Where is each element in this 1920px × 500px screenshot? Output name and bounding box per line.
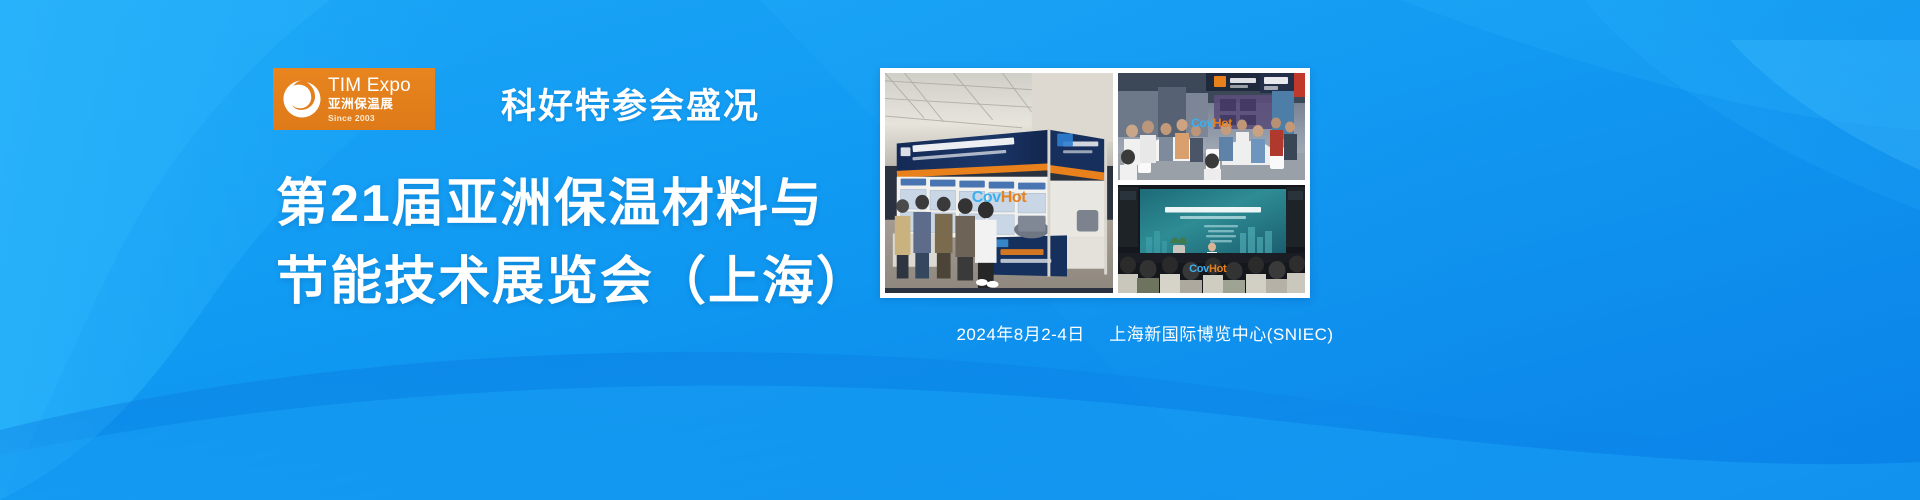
logo-since-text: Since 2003 [328,114,411,123]
banner-subtitle: 科好特参会盛况 [501,78,760,129]
forum-presentation-photo: CovHot [1118,185,1305,293]
page-title: 第21届亚洲保温材料与 节能技术展览会（上海） [276,165,870,321]
exhibition-booth-photo: CovHot [885,73,1113,293]
logo-brand-cn: 亚洲保温展 [328,98,411,111]
logo-brand-en: TIM Expo [328,76,411,95]
collage-right-column: CovHot [1118,73,1305,293]
tim-expo-circular-mark [281,78,323,120]
page-title-line-2: 节能技术展览会（上海） [276,243,870,321]
page-title-line-1: 第21届亚洲保温材料与 [276,165,870,243]
networking-area-photo: CovHot [1118,73,1305,180]
tim-expo-logo: TIM Expo 亚洲保温展 Since 2003 [273,68,435,130]
photo-collage: CovHot [880,68,1310,298]
promo-banner: TIM Expo 亚洲保温展 Since 2003 科好特参会盛况 第21届亚洲… [0,0,1920,500]
